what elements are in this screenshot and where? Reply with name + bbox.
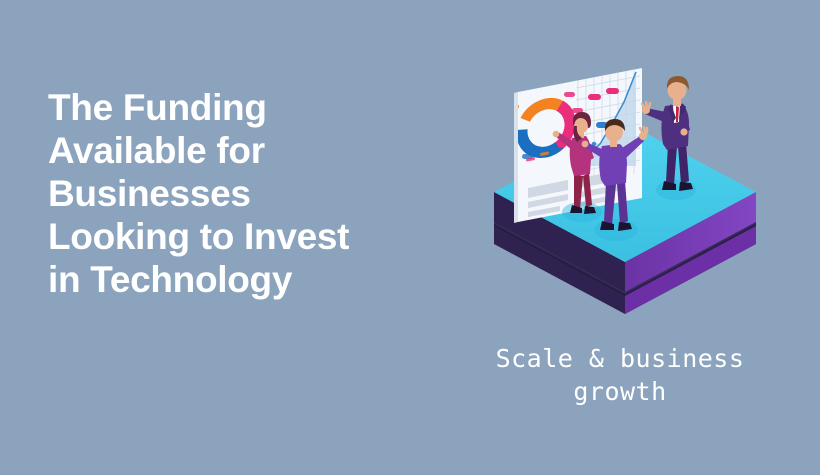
headline-line-4: Looking to Invest xyxy=(48,215,448,258)
headline-line-3: Businesses xyxy=(48,172,448,215)
caption-line-2: growth xyxy=(440,375,800,408)
illustration-caption: Scale & business growth xyxy=(440,342,800,408)
headline-line-2: Available for xyxy=(48,129,448,172)
page-title: The Funding Available for Businesses Loo… xyxy=(48,86,448,301)
banner-root: The Funding Available for Businesses Loo… xyxy=(0,0,820,475)
illustration-isometric-analytics xyxy=(470,66,780,326)
caption-line-1: Scale & business xyxy=(440,342,800,375)
headline-line-1: The Funding xyxy=(48,86,448,129)
headline-line-5: in Technology xyxy=(48,258,448,301)
